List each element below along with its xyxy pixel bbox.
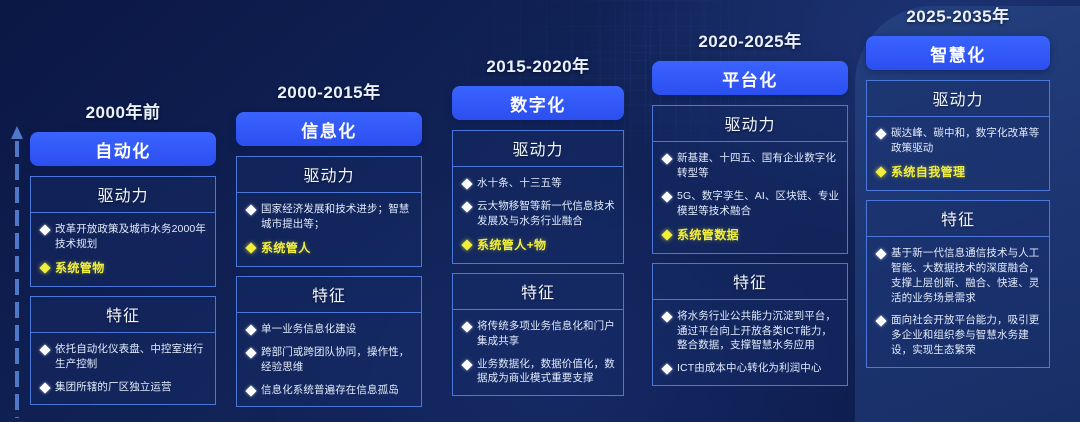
bullet-text: 信息化系统普遍存在信息孤岛	[261, 383, 399, 398]
bullet-row: 国家经济发展和技术进步；智慧城市提出等；	[243, 202, 414, 232]
diamond-bullet-icon	[245, 385, 256, 396]
card-title-feature: 特征	[31, 297, 215, 333]
card-feature: 特征将传统多项业务信息化和门户集成共享业务数据化，数据价值化，数据成为商业模式重…	[452, 273, 624, 397]
timeline-column-3[interactable]: 2015-2020年数字化驱动力水十条、十三五等云大物移智等新一代信息技术发展及…	[452, 0, 624, 405]
bullet-row-highlight: 系统管人+物	[459, 237, 616, 254]
column-year-label: 2000-2015年	[236, 78, 422, 103]
bullet-text: 业务数据化，数据价值化，数据成为商业模式重要支撑	[477, 357, 616, 387]
diamond-bullet-icon	[661, 191, 672, 202]
card-driver: 驱动力碳达峰、碳中和，数字化改革等政策驱动系统自我管理	[866, 80, 1050, 191]
stage-pill[interactable]: 智慧化	[866, 36, 1050, 70]
diamond-bullet-icon	[39, 262, 50, 273]
card-body-driver: 水十条、十三五等云大物移智等新一代信息技术发展及与水务行业融合系统管人+物	[453, 167, 623, 263]
bullet-row: 将水务行业公共能力沉淀到平台，通过平台向上开放各类ICT能力，整合数据，支撑智慧…	[659, 309, 840, 354]
card-body-feature: 将传统多项业务信息化和门户集成共享业务数据化，数据价值化，数据成为商业模式重要支…	[453, 310, 623, 396]
card-body-feature: 依托自动化仪表盘、中控室进行生产控制集团所辖的厂区独立运营	[31, 333, 215, 404]
bullet-text: 新基建、十四五、国有企业数字化转型等	[677, 151, 840, 181]
bullet-text: 跨部门或跨团队协同，操作性，经验思维	[261, 345, 414, 375]
stage-pill[interactable]: 信息化	[236, 112, 422, 146]
bullet-text: 5G、数字孪生、AI、区块链、专业模型等技术融合	[677, 189, 840, 219]
column-year-label: 2020-2025年	[652, 27, 848, 52]
bullet-row-highlight: 系统管物	[37, 260, 208, 277]
bullet-row: 单一业务信息化建设	[243, 322, 414, 337]
bullet-text: 集团所辖的厂区独立运营	[55, 380, 172, 395]
card-driver: 驱动力新基建、十四五、国有企业数字化转型等5G、数字孪生、AI、区块链、专业模型…	[652, 105, 848, 254]
bullet-row-highlight: 系统管人	[243, 240, 414, 257]
bullet-text: ICT由成本中心转化为利润中心	[677, 361, 821, 376]
card-body-feature: 单一业务信息化建设跨部门或跨团队协同，操作性，经验思维信息化系统普遍存在信息孤岛	[237, 313, 421, 407]
stage-pill[interactable]: 平台化	[652, 61, 848, 95]
diamond-bullet-icon	[245, 347, 256, 358]
bullet-row: 面向社会开放平台能力，吸引更多企业和组织参与智慧水务建设，实现生态繁荣	[873, 313, 1042, 358]
bullet-text: 单一业务信息化建设	[261, 322, 356, 337]
bullet-row: 云大物移智等新一代信息技术发展及与水务行业融合	[459, 199, 616, 229]
card-title-feature: 特征	[237, 277, 421, 313]
card-feature: 特征依托自动化仪表盘、中控室进行生产控制集团所辖的厂区独立运营	[30, 296, 216, 405]
bullet-row: 5G、数字孪生、AI、区块链、专业模型等技术融合	[659, 189, 840, 219]
card-body-feature: 基于新一代信息通信技术与人工智能、大数据技术的深度融合，支撑上层创新、融合、快速…	[867, 237, 1049, 367]
bullet-row: 基于新一代信息通信技术与人工智能、大数据技术的深度融合，支撑上层创新、融合、快速…	[873, 246, 1042, 306]
diamond-bullet-icon	[245, 204, 256, 215]
card-title-driver: 驱动力	[653, 106, 847, 142]
card-title-feature: 特征	[453, 274, 623, 310]
card-title-driver: 驱动力	[237, 157, 421, 193]
card-driver: 驱动力改革开放政策及城市水务2000年技术规划系统管物	[30, 176, 216, 287]
diamond-bullet-icon	[461, 239, 472, 250]
bullet-row: 新基建、十四五、国有企业数字化转型等	[659, 151, 840, 181]
card-title-driver: 驱动力	[867, 81, 1049, 117]
bullet-text: 云大物移智等新一代信息技术发展及与水务行业融合	[477, 199, 616, 229]
timeline-column-5[interactable]: 2025-2035年智慧化驱动力碳达峰、碳中和，数字化改革等政策驱动系统自我管理…	[866, 0, 1050, 377]
diamond-bullet-icon	[661, 229, 672, 240]
column-year-label: 2000年前	[30, 98, 216, 123]
bullet-text: 基于新一代信息通信技术与人工智能、大数据技术的深度融合，支撑上层创新、融合、快速…	[891, 246, 1042, 306]
bullet-text: 国家经济发展和技术进步；智慧城市提出等；	[261, 202, 414, 232]
diamond-bullet-icon	[875, 166, 886, 177]
diamond-bullet-icon	[875, 128, 886, 139]
card-driver: 驱动力国家经济发展和技术进步；智慧城市提出等；系统管人	[236, 156, 422, 267]
bullet-text: 碳达峰、碳中和，数字化改革等政策驱动	[891, 126, 1042, 156]
card-driver: 驱动力水十条、十三五等云大物移智等新一代信息技术发展及与水务行业融合系统管人+物	[452, 130, 624, 264]
timeline-column-4[interactable]: 2020-2025年平台化驱动力新基建、十四五、国有企业数字化转型等5G、数字孪…	[652, 0, 848, 395]
column-year-label: 2025-2035年	[866, 2, 1050, 27]
diamond-bullet-icon	[39, 224, 50, 235]
bullet-row: 改革开放政策及城市水务2000年技术规划	[37, 222, 208, 252]
bullet-row: 水十条、十三五等	[459, 176, 616, 191]
card-body-feature: 将水务行业公共能力沉淀到平台，通过平台向上开放各类ICT能力，整合数据，支撑智慧…	[653, 300, 847, 386]
diamond-bullet-icon	[875, 248, 886, 259]
bullet-row: 业务数据化，数据价值化，数据成为商业模式重要支撑	[459, 357, 616, 387]
bullet-text: 系统管人+物	[477, 237, 546, 254]
card-feature: 特征单一业务信息化建设跨部门或跨团队协同，操作性，经验思维信息化系统普遍存在信息…	[236, 276, 422, 408]
diamond-bullet-icon	[461, 201, 472, 212]
card-body-driver: 改革开放政策及城市水务2000年技术规划系统管物	[31, 213, 215, 286]
card-title-feature: 特征	[867, 201, 1049, 237]
diamond-bullet-icon	[875, 316, 886, 327]
timeline-column-2[interactable]: 2000-2015年信息化驱动力国家经济发展和技术进步；智慧城市提出等；系统管人…	[236, 0, 422, 416]
bullet-text: 面向社会开放平台能力，吸引更多企业和组织参与智慧水务建设，实现生态繁荣	[891, 313, 1042, 358]
bullet-text: 系统管数据	[677, 227, 739, 244]
card-feature: 特征基于新一代信息通信技术与人工智能、大数据技术的深度融合，支撑上层创新、融合、…	[866, 200, 1050, 368]
diamond-bullet-icon	[245, 242, 256, 253]
bullet-text: 改革开放政策及城市水务2000年技术规划	[55, 222, 208, 252]
bullet-row: 依托自动化仪表盘、中控室进行生产控制	[37, 342, 208, 372]
card-body-driver: 碳达峰、碳中和，数字化改革等政策驱动系统自我管理	[867, 117, 1049, 190]
infographic-canvas: 2000年前自动化驱动力改革开放政策及城市水务2000年技术规划系统管物特征依托…	[0, 0, 1080, 422]
bullet-row: 集团所辖的厂区独立运营	[37, 380, 208, 395]
diamond-bullet-icon	[39, 382, 50, 393]
bullet-row-highlight: 系统管数据	[659, 227, 840, 244]
diamond-bullet-icon	[661, 364, 672, 375]
card-title-feature: 特征	[653, 264, 847, 300]
timeline-column-1[interactable]: 2000年前自动化驱动力改革开放政策及城市水务2000年技术规划系统管物特征依托…	[30, 0, 216, 414]
diamond-bullet-icon	[245, 324, 256, 335]
bullet-row: 将传统多项业务信息化和门户集成共享	[459, 319, 616, 349]
timeline-columns: 2000年前自动化驱动力改革开放政策及城市水务2000年技术规划系统管物特征依托…	[0, 0, 1080, 422]
card-feature: 特征将水务行业公共能力沉淀到平台，通过平台向上开放各类ICT能力，整合数据，支撑…	[652, 263, 848, 387]
bullet-text: 依托自动化仪表盘、中控室进行生产控制	[55, 342, 208, 372]
bullet-text: 系统自我管理	[891, 164, 965, 181]
card-title-driver: 驱动力	[31, 177, 215, 213]
bullet-text: 系统管物	[55, 260, 105, 277]
card-title-driver: 驱动力	[453, 131, 623, 167]
bullet-text: 将传统多项业务信息化和门户集成共享	[477, 319, 616, 349]
stage-pill[interactable]: 数字化	[452, 86, 624, 120]
diamond-bullet-icon	[661, 153, 672, 164]
bullet-row: 碳达峰、碳中和，数字化改革等政策驱动	[873, 126, 1042, 156]
card-body-driver: 国家经济发展和技术进步；智慧城市提出等；系统管人	[237, 193, 421, 266]
card-body-driver: 新基建、十四五、国有企业数字化转型等5G、数字孪生、AI、区块链、专业模型等技术…	[653, 142, 847, 253]
bullet-text: 水十条、十三五等	[477, 176, 562, 191]
diamond-bullet-icon	[461, 178, 472, 189]
bullet-text: 系统管人	[261, 240, 311, 257]
bullet-row-highlight: 系统自我管理	[873, 164, 1042, 181]
column-year-label: 2015-2020年	[452, 52, 624, 77]
stage-pill[interactable]: 自动化	[30, 132, 216, 166]
diamond-bullet-icon	[461, 321, 472, 332]
bullet-row: 跨部门或跨团队协同，操作性，经验思维	[243, 345, 414, 375]
diamond-bullet-icon	[661, 311, 672, 322]
bullet-row: 信息化系统普遍存在信息孤岛	[243, 383, 414, 398]
diamond-bullet-icon	[461, 359, 472, 370]
bullet-text: 将水务行业公共能力沉淀到平台，通过平台向上开放各类ICT能力，整合数据，支撑智慧…	[677, 309, 840, 354]
bullet-row: ICT由成本中心转化为利润中心	[659, 361, 840, 376]
diamond-bullet-icon	[39, 344, 50, 355]
